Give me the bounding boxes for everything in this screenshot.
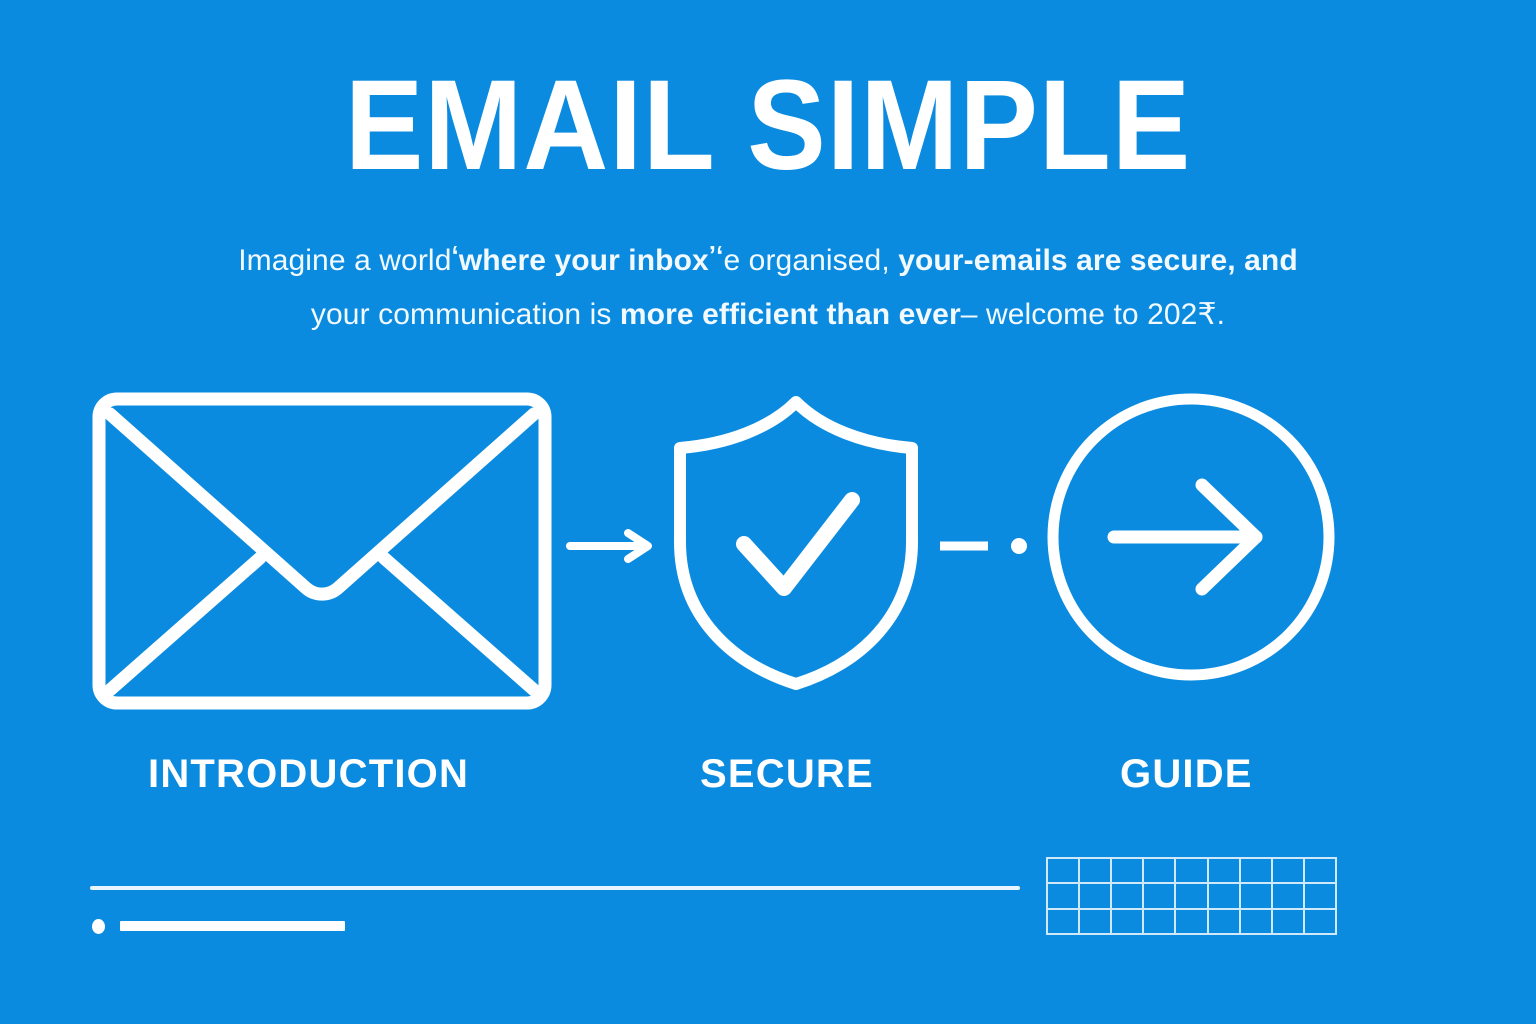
grid-cell (1176, 859, 1208, 884)
grid-cell (1209, 859, 1241, 884)
footer-divider-short (120, 921, 345, 931)
footer-bullet-dot (92, 919, 105, 934)
subtitle-l2-part3: – welcome to 202₹. (961, 298, 1225, 331)
grid-cell (1273, 910, 1305, 935)
grid-cell (1112, 910, 1144, 935)
grid-cell (1209, 910, 1241, 935)
step-label-guide: GUIDE (1120, 752, 1253, 796)
subtitle-l1-part2: where your inbox (459, 244, 709, 277)
grid-cell (1305, 884, 1337, 909)
shield-check-icon[interactable] (666, 392, 926, 692)
envelope-icon[interactable] (92, 392, 552, 710)
step-icon-row (0, 392, 1536, 722)
grid-cell (1305, 910, 1337, 935)
grid-cell (1080, 859, 1112, 884)
subtitle-line-1: Imagine a world‘where your inbox’‘e orga… (118, 228, 1418, 288)
dash-dot-connector (936, 528, 1032, 564)
grid-cell (1112, 859, 1144, 884)
grid-cell (1241, 884, 1273, 909)
step-label-secure: SECURE (700, 752, 874, 796)
subtitle-l2-part1: your communication is (311, 298, 620, 331)
grid-cell (1080, 910, 1112, 935)
subtitle-l1-part1: Imagine a world (238, 244, 451, 277)
subtitle-paragraph: Imagine a world‘where your inbox’‘e orga… (118, 228, 1418, 342)
grid-cell (1112, 884, 1144, 909)
grid-cell (1273, 884, 1305, 909)
grid-cell (1176, 910, 1208, 935)
grid-cell (1048, 910, 1080, 935)
grid-cell (1209, 884, 1241, 909)
subtitle-l1-mark1: ‘ (451, 240, 458, 270)
grid-cell (1241, 859, 1273, 884)
poster-canvas: EMAIL SIMPLE Imagine a world‘where your … (0, 0, 1536, 1024)
grid-cell (1176, 884, 1208, 909)
grid-cell (1048, 884, 1080, 909)
subtitle-l2-part2: more efficient than ever (620, 298, 961, 331)
grid-cell (1144, 859, 1176, 884)
grid-cell (1144, 910, 1176, 935)
footer-grid-table (1046, 857, 1337, 935)
grid-cell (1144, 884, 1176, 909)
page-title: EMAIL SIMPLE (61, 62, 1474, 190)
circle-arrow-right-icon[interactable] (1046, 392, 1336, 682)
grid-cell (1048, 859, 1080, 884)
grid-cell (1305, 859, 1337, 884)
step-label-introduction: INTRODUCTION (148, 752, 469, 796)
subtitle-l1-part3: e organised, (723, 244, 889, 277)
footer-divider-long (90, 886, 1020, 890)
subtitle-l1-mark2: ’‘ (709, 240, 724, 270)
grid-cell (1241, 910, 1273, 935)
subtitle-line-2: your communication is more efficient tha… (118, 288, 1418, 342)
subtitle-l1-part4: your-emails are secure, and (890, 244, 1298, 277)
grid-cell (1273, 859, 1305, 884)
grid-cell (1080, 884, 1112, 909)
arrow-connector (566, 528, 658, 564)
